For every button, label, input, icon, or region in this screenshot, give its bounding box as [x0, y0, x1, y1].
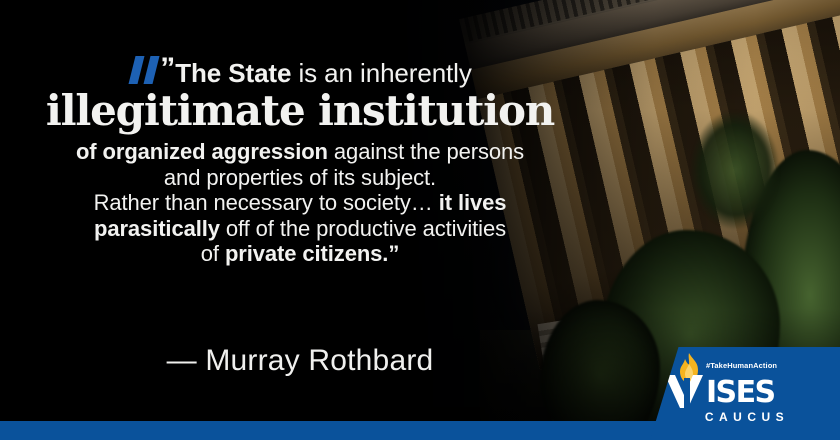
- quote-line-6-rest: off of the productive activities: [220, 216, 506, 241]
- mises-caucus-logo-badge[interactable]: #TakeHumanAction ISES CAUCUS: [650, 347, 840, 440]
- quote-line-7: of private citizens.”: [0, 241, 600, 267]
- quote-line-3-bold: of organized aggression: [76, 139, 328, 164]
- quote-card: ” The State is an inherently illegitimat…: [0, 0, 840, 440]
- quote-line-1-bold: The State: [175, 58, 291, 88]
- quote-line-4: and properties of its subject.: [0, 165, 600, 191]
- quote-bar-left: [129, 56, 145, 84]
- quote-line-3: of organized aggression against the pers…: [0, 139, 600, 165]
- quote-line-5-rest: Rather than necessary to society…: [94, 190, 439, 215]
- quote-line-3-rest: against the persons: [328, 139, 524, 164]
- quote-glyph: ”: [160, 52, 175, 87]
- quote-line-6-bold: parasitically: [94, 216, 220, 241]
- badge-inner: #TakeHumanAction ISES CAUCUS: [650, 347, 840, 440]
- quote-line-1: ” The State is an inherently: [0, 56, 600, 88]
- quote-bar-right: [144, 56, 160, 84]
- quote-line-5: Rather than necessary to society… it liv…: [0, 190, 600, 216]
- quote-line-7-bold: private citizens.”: [225, 241, 399, 266]
- caucus-text: CAUCUS: [664, 410, 830, 424]
- hashtag-text: #TakeHumanAction: [706, 361, 777, 370]
- quote-line-1-rest: is an inherently: [291, 58, 471, 88]
- quote-block: ” The State is an inherently illegitimat…: [0, 56, 600, 267]
- opening-quote-icon: ”: [128, 56, 174, 84]
- quote-line-7-rest: of: [201, 241, 225, 266]
- quote-line-2-headline: illegitimate institution: [0, 90, 600, 133]
- mises-text: ISES: [706, 375, 774, 410]
- mises-wordmark: ISES: [664, 374, 830, 408]
- m-chevron-monogram-icon: [664, 375, 710, 408]
- quote-line-6: parasitically off of the productive acti…: [0, 216, 600, 242]
- attribution: — Murray Rothbard: [0, 344, 600, 378]
- quote-line-5-bold: it lives: [439, 190, 507, 215]
